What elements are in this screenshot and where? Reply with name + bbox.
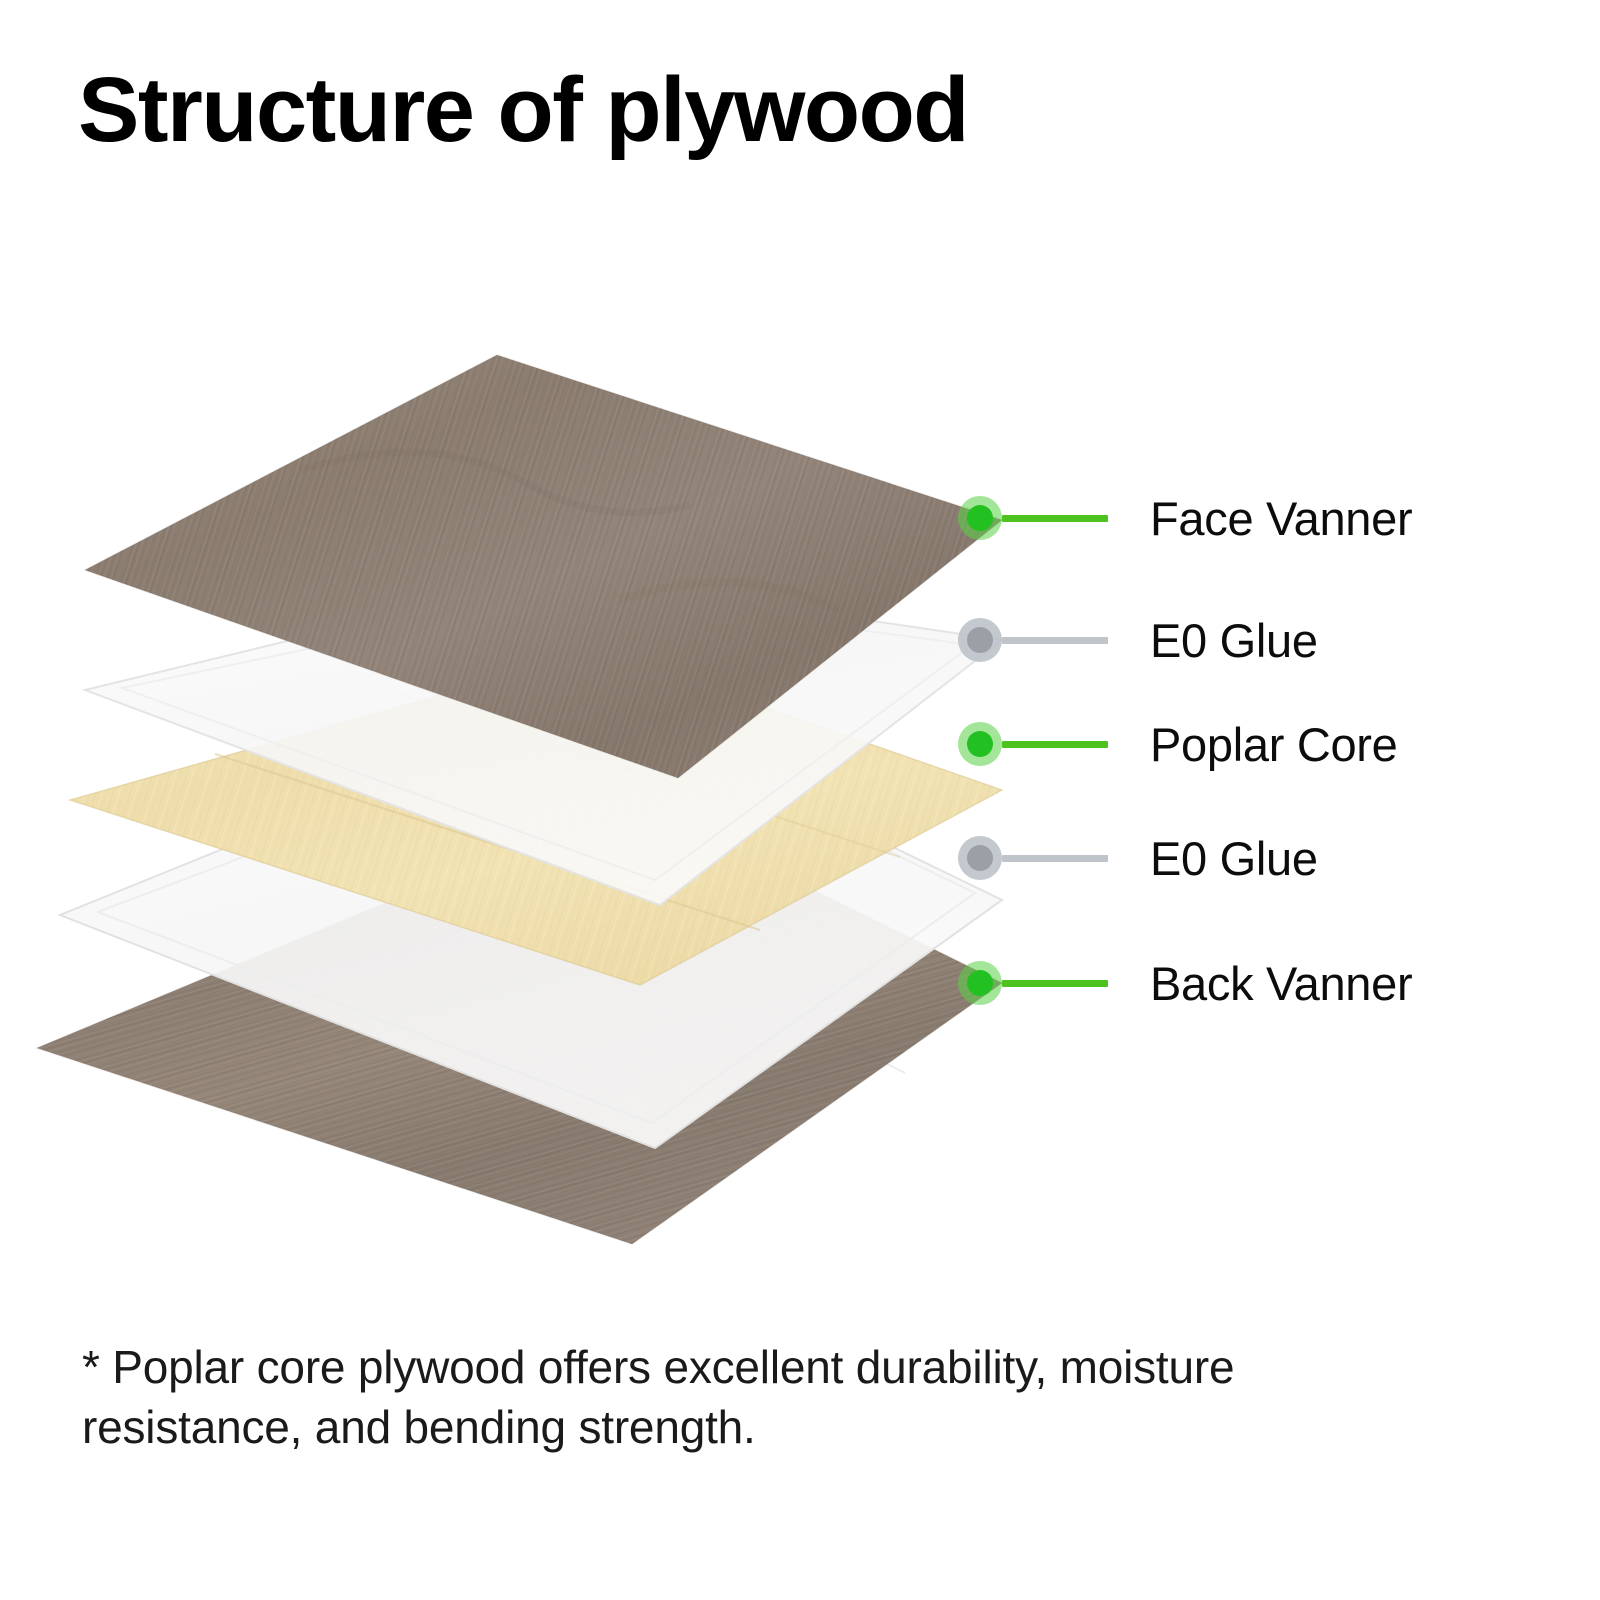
leader-line-green <box>1002 980 1108 987</box>
layer-label-glue-top[interactable]: E0 Glue <box>958 610 1318 670</box>
marker-dot-green-icon <box>958 961 1002 1005</box>
marker-dot-green-icon <box>958 496 1002 540</box>
leader-line-green <box>1002 741 1108 748</box>
plywood-layer-diagram <box>0 0 1600 1320</box>
layer-stack-svg <box>0 0 1600 1320</box>
marker-dot-gray-icon <box>958 836 1002 880</box>
plywood-structure-infographic: Structure of plywood <box>0 0 1600 1600</box>
leader-line-gray <box>1002 637 1108 644</box>
marker-dot-core <box>967 627 993 653</box>
layer-label-text: Back Vanner <box>1150 956 1412 1011</box>
marker-dot-gray-icon <box>958 618 1002 662</box>
layer-label-text: E0 Glue <box>1150 831 1318 886</box>
marker-dot-core <box>967 845 993 871</box>
layer-label-back-vanner[interactable]: Back Vanner <box>958 953 1412 1013</box>
leader-line-green <box>1002 515 1108 522</box>
marker-dot-core <box>967 970 993 996</box>
layer-label-poplar-core[interactable]: Poplar Core <box>958 714 1398 774</box>
footnote-text: * Poplar core plywood offers excellent d… <box>82 1338 1342 1458</box>
layer-label-text: E0 Glue <box>1150 613 1318 668</box>
marker-dot-core <box>967 505 993 531</box>
layer-label-text: Face Vanner <box>1150 491 1412 546</box>
layer-label-text: Poplar Core <box>1150 717 1398 772</box>
layer-label-face-vanner[interactable]: Face Vanner <box>958 488 1412 548</box>
marker-dot-green-icon <box>958 722 1002 766</box>
layer-label-glue-bottom[interactable]: E0 Glue <box>958 828 1318 888</box>
leader-line-gray <box>1002 855 1108 862</box>
marker-dot-core <box>967 731 993 757</box>
